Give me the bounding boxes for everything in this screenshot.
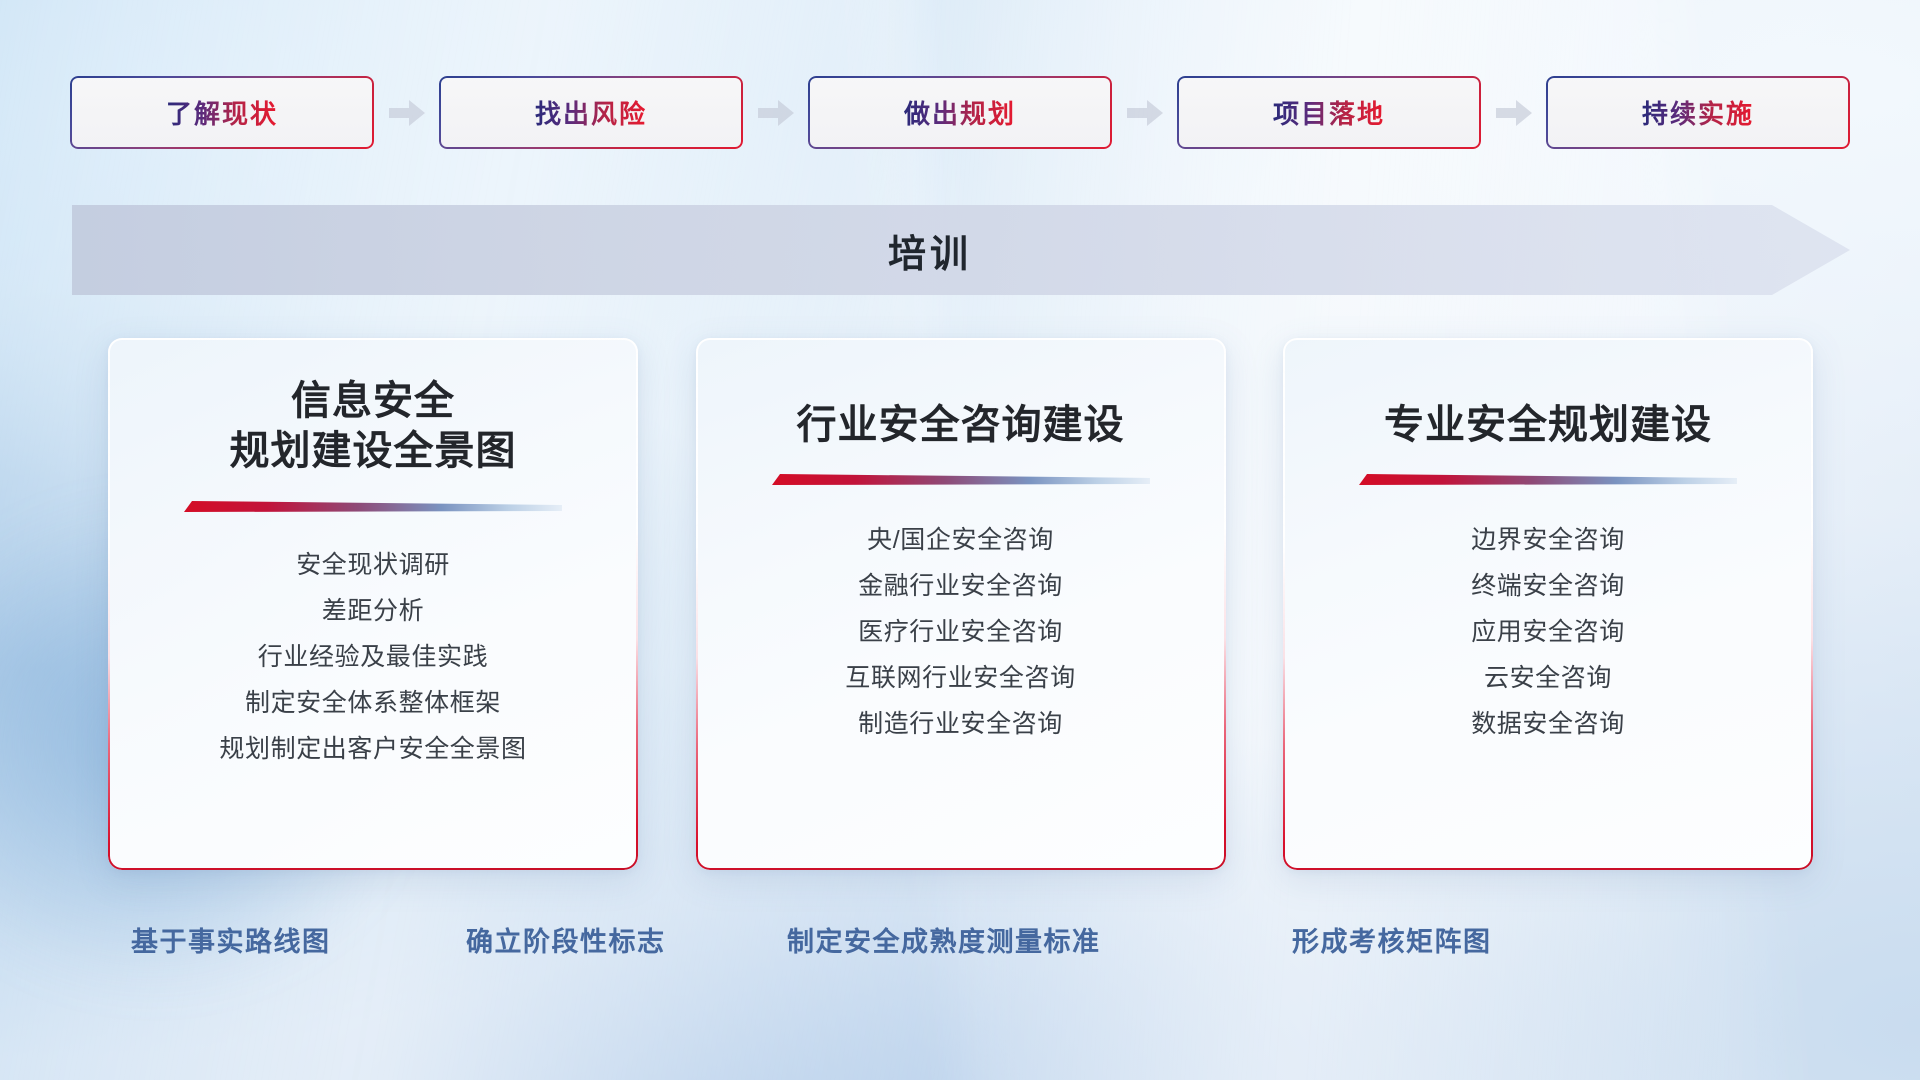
- card-inner: 信息安全 规划建设全景图: [108, 338, 638, 870]
- training-banner: 培训: [72, 205, 1850, 295]
- caption-maturity: 制定安全成熟度测量标准: [787, 920, 1101, 959]
- list-item: 规划制定出客户安全全景图: [219, 727, 526, 773]
- list-item: 制定安全体系整体框架: [245, 681, 501, 727]
- card-list: 央/国企安全咨询 金融行业安全咨询 医疗行业安全咨询 互联网行业安全咨询 制造行…: [722, 518, 1200, 748]
- list-item: 制造行业安全咨询: [858, 702, 1063, 748]
- caption-matrix: 形成考核矩阵图: [1292, 920, 1492, 959]
- caption-roadmap: 基于事实路线图: [131, 920, 331, 959]
- card-list: 安全现状调研 差距分析 行业经验及最佳实践 制定安全体系整体框架 规划制定出客户…: [134, 543, 612, 773]
- list-item: 云安全咨询: [1484, 656, 1612, 702]
- process-step-4[interactable]: 项目落地: [1177, 76, 1481, 149]
- card-divider: [184, 499, 562, 517]
- arrow-right-icon: [389, 98, 425, 128]
- process-step-1[interactable]: 了解现状: [70, 76, 374, 149]
- card-inner: 行业安全咨询建设: [696, 338, 1226, 870]
- card-security-blueprint[interactable]: 信息安全 规划建设全景图: [108, 338, 638, 870]
- caption-row: 基于事实路线图 确立阶段性标志 制定安全成熟度测量标准 形成考核矩阵图: [0, 920, 1920, 966]
- list-item: 安全现状调研: [296, 543, 450, 589]
- card-divider: [772, 472, 1150, 490]
- card-row: 信息安全 规划建设全景图: [108, 338, 1813, 870]
- card-title: 信息安全 规划建设全景图: [230, 376, 517, 477]
- card-inner: 专业安全规划建设: [1283, 338, 1813, 870]
- process-step-2[interactable]: 找出风险: [439, 76, 743, 149]
- process-step-label: 了解现状: [166, 94, 278, 131]
- card-industry-consulting[interactable]: 行业安全咨询建设: [696, 338, 1226, 870]
- card-divider: [1359, 472, 1737, 490]
- process-step-label: 项目落地: [1273, 94, 1385, 131]
- arrow-right-icon: [1127, 98, 1163, 128]
- process-flow: 了解现状 找出风险 做出规划 项目落地 持续实施: [70, 75, 1850, 150]
- list-item: 央/国企安全咨询: [867, 518, 1054, 564]
- list-item: 医疗行业安全咨询: [858, 610, 1063, 656]
- list-item: 互联网行业安全咨询: [845, 656, 1075, 702]
- card-title: 行业安全咨询建设: [797, 400, 1125, 450]
- process-step-label: 找出风险: [535, 94, 647, 131]
- process-step-label: 持续实施: [1642, 94, 1754, 131]
- card-professional-planning[interactable]: 专业安全规划建设: [1283, 338, 1813, 870]
- arrow-right-icon: [1496, 98, 1532, 128]
- process-step-label: 做出规划: [904, 94, 1016, 131]
- banner-title-wrap: 培训: [72, 205, 1850, 295]
- list-item: 金融行业安全咨询: [858, 564, 1063, 610]
- list-item: 差距分析: [322, 589, 424, 635]
- list-item: 终端安全咨询: [1471, 564, 1625, 610]
- caption-milestone: 确立阶段性标志: [466, 920, 666, 959]
- list-item: 边界安全咨询: [1471, 518, 1625, 564]
- card-title: 专业安全规划建设: [1384, 400, 1712, 450]
- list-item: 行业经验及最佳实践: [258, 635, 488, 681]
- process-step-5[interactable]: 持续实施: [1546, 76, 1850, 149]
- card-list: 边界安全咨询 终端安全咨询 应用安全咨询 云安全咨询 数据安全咨询: [1309, 518, 1787, 748]
- list-item: 应用安全咨询: [1471, 610, 1625, 656]
- arrow-right-icon: [758, 98, 794, 128]
- list-item: 数据安全咨询: [1471, 702, 1625, 748]
- process-step-3[interactable]: 做出规划: [808, 76, 1112, 149]
- banner-title: 培训: [888, 223, 972, 278]
